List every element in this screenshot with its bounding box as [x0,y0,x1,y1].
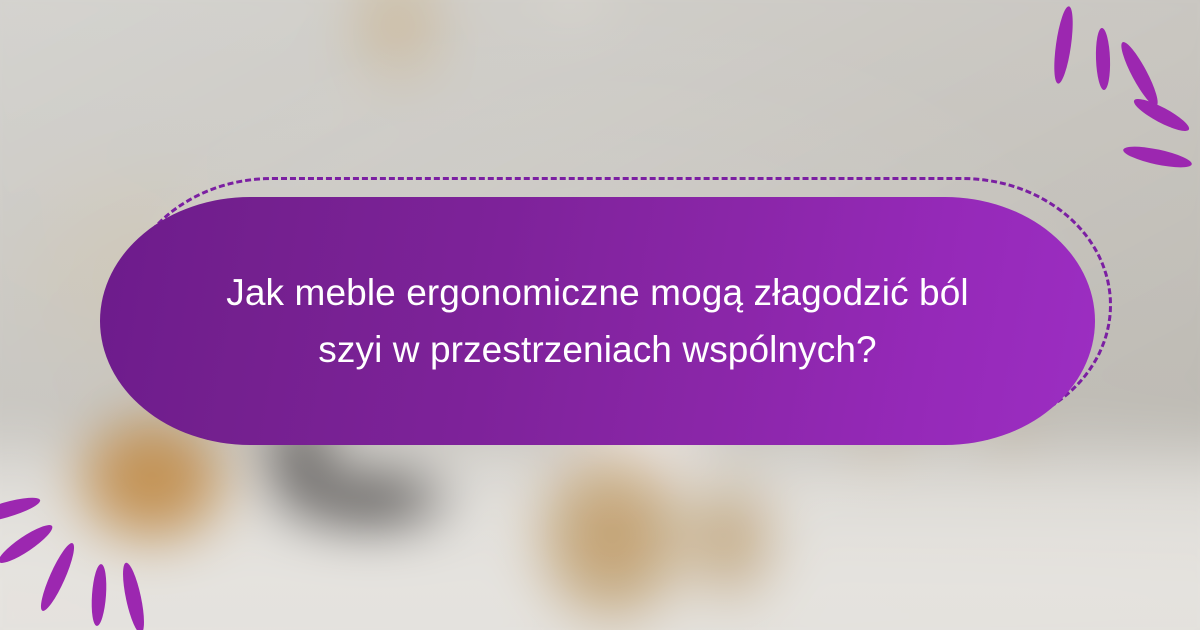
share-card: Jak meble ergonomiczne mogą złagodzić bó… [0,0,1200,630]
headline-callout: Jak meble ergonomiczne mogą złagodzić bó… [100,185,1100,445]
headline-text: Jak meble ergonomiczne mogą złagodzić bó… [100,197,1095,445]
headline-line-2: szyi w przestrzeniach wspólnych? [318,321,876,378]
headline-line-1: Jak meble ergonomiczne mogą złagodzić bó… [226,264,968,321]
